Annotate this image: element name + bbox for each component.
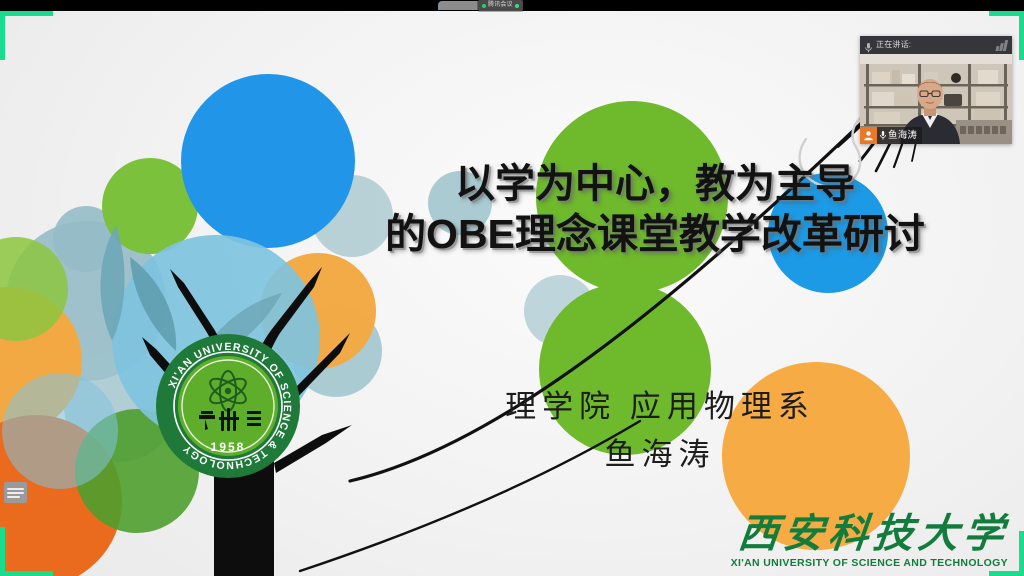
- university-name-english: XI'AN UNIVERSITY OF SCIENCE AND TECHNOLO…: [731, 556, 1008, 570]
- slide-title-line-2: 的OBE理念课堂教学改革研讨: [300, 209, 1010, 259]
- speaking-status-label: 正在讲话:: [876, 40, 911, 50]
- person-avatar-icon: [860, 127, 877, 144]
- inactive-tab[interactable]: [438, 1, 492, 10]
- speaker-video-panel[interactable]: 正在讲话:: [860, 36, 1012, 144]
- screen-share-view: 腾讯会议: [0, 0, 1024, 576]
- slide-subtitle-presenter: 鱼海涛: [330, 431, 990, 479]
- slide-subtitle: 理学院 应用物理系 鱼海涛: [330, 383, 990, 479]
- svg-text:1958: 1958: [211, 440, 246, 454]
- microphone-icon: [880, 131, 886, 140]
- university-name-chinese: 西安科技大学: [728, 513, 1010, 555]
- participant-name: 鱼海涛: [888, 130, 917, 141]
- slide-title: 以学为中心，教为主导 的OBE理念课堂教学改革研讨: [300, 159, 1010, 259]
- microphone-icon: [865, 40, 872, 50]
- participant-name-badge: 鱼海涛: [860, 127, 922, 144]
- university-seal-logo: XI'AN UNIVERSITY OF SCIENCE & TECHNOLOGY: [155, 333, 301, 479]
- tencent-meeting-tab[interactable]: 腾讯会议: [478, 0, 523, 11]
- green-dot-icon: [482, 4, 486, 8]
- slide-subtitle-department: 理学院 应用物理系: [330, 383, 990, 431]
- university-wordmark: 西安科技大学 XI'AN UNIVERSITY OF SCIENCE AND T…: [731, 513, 1008, 570]
- browser-chrome-strip: 腾讯会议: [0, 0, 1024, 11]
- list-menu-icon[interactable]: [4, 482, 27, 503]
- slide-title-line-1: 以学为中心，教为主导: [300, 159, 1010, 209]
- tab-label: 腾讯会议: [488, 2, 513, 9]
- signal-bars-icon: [996, 40, 1007, 51]
- video-panel-header: 正在讲话:: [860, 36, 1012, 54]
- green-dot-icon: [515, 4, 519, 8]
- video-feed: 鱼海涛: [860, 54, 1012, 144]
